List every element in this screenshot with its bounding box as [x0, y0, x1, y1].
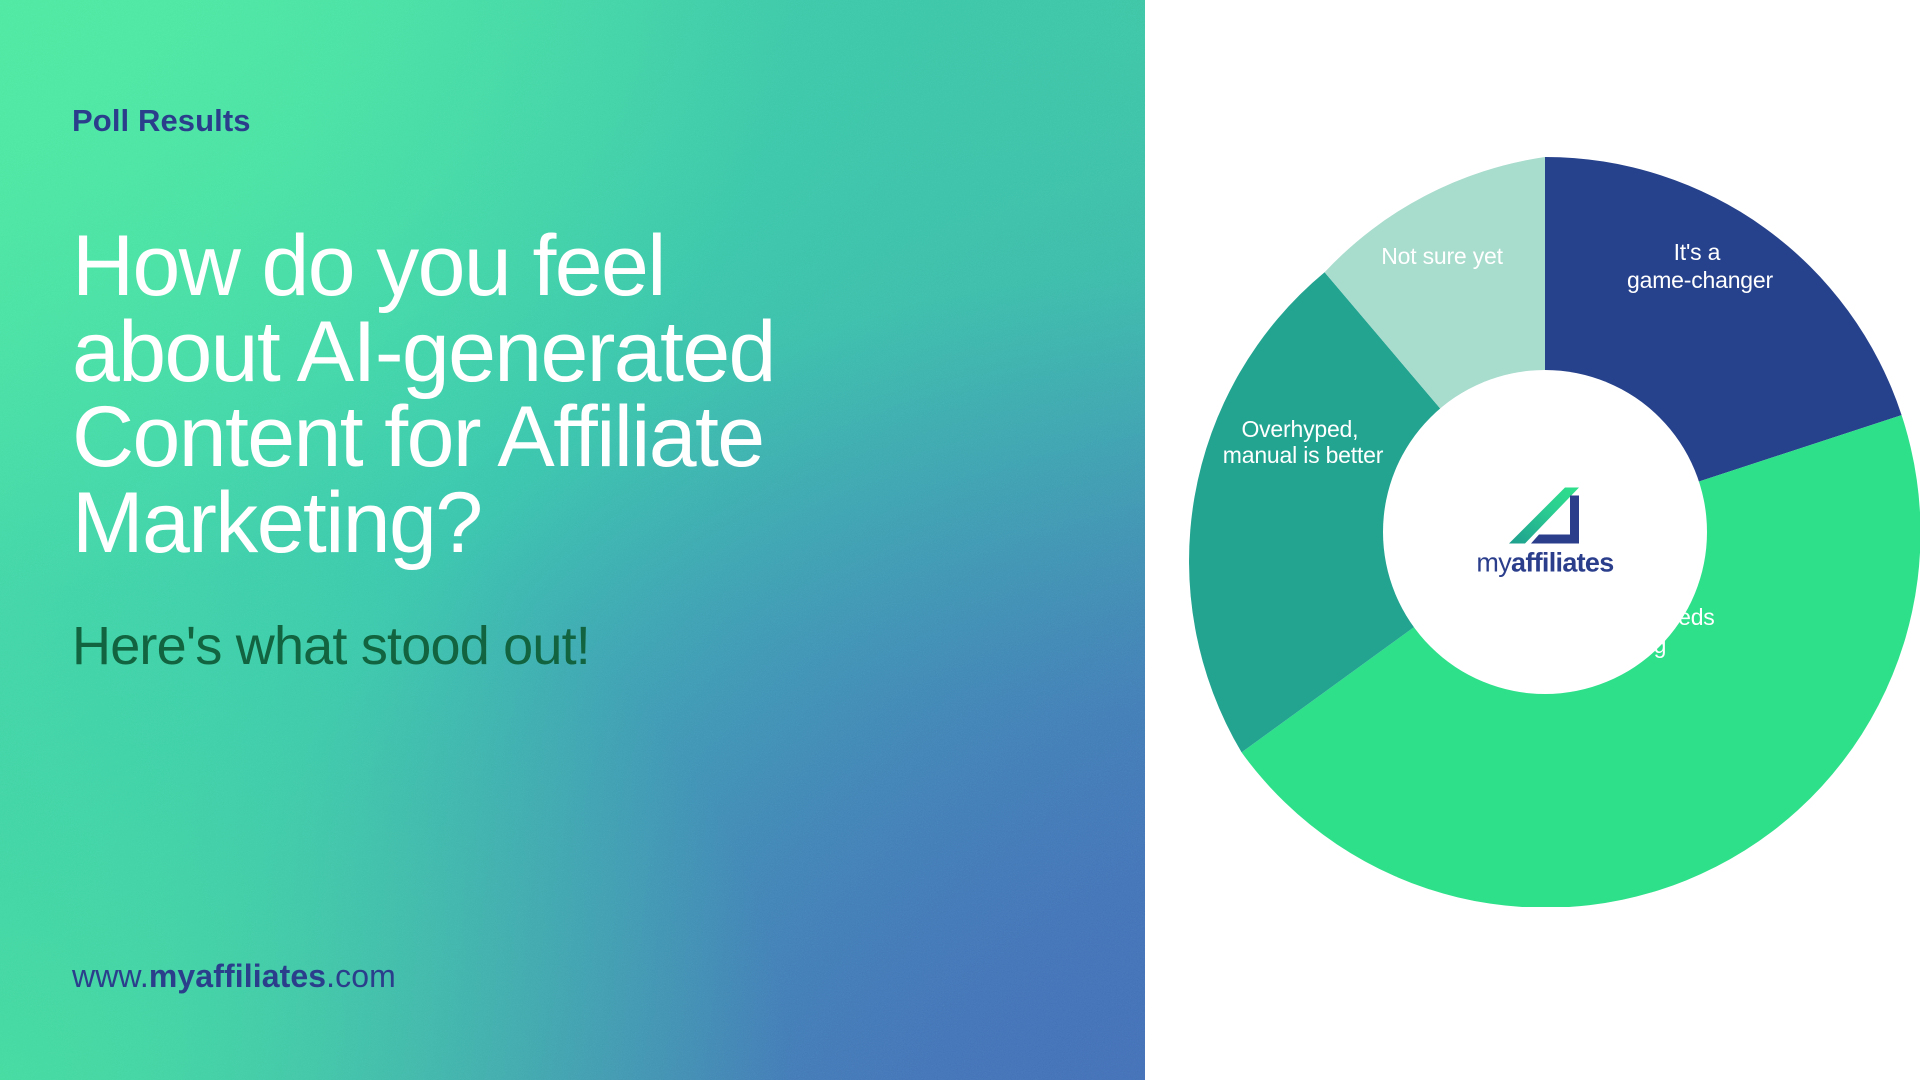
url-brand: myaffiliates	[149, 958, 326, 994]
subheading: Here's what stood out!	[72, 618, 1075, 675]
slice-label-overhyped-manual-is-better: Overhyped, manual is better	[1223, 416, 1384, 468]
headline-line-4: Marketing?	[72, 481, 1075, 567]
left-gradient-panel: Poll Results How do you feel about AI-ge…	[0, 0, 1145, 1080]
poll-results-graphic: Poll Results How do you feel about AI-ge…	[0, 0, 1920, 1080]
myaffiliates-logo: myaffiliates	[1440, 488, 1650, 577]
headline-line-1: How do you feel	[72, 224, 1075, 310]
myaffiliates-triangle-mark-icon	[1509, 488, 1581, 546]
donut-chart: It's a game-changer Useful but needs edi…	[1170, 157, 1920, 907]
myaffiliates-wordmark: myaffiliates	[1476, 550, 1613, 577]
url-suffix: .com	[326, 958, 396, 994]
right-chart-panel: It's a game-changer Useful but needs edi…	[1145, 0, 1920, 1080]
headline-line-3: Content for Affiliate	[72, 395, 1075, 481]
slice-label-not-sure-yet: Not sure yet	[1381, 243, 1503, 269]
website-url[interactable]: www.myaffiliates.com	[72, 958, 396, 995]
eyebrow-label: Poll Results	[72, 105, 1075, 136]
headline-line-2: about AI-generated	[72, 310, 1075, 396]
url-prefix: www.	[72, 958, 149, 994]
wordmark-my: my	[1476, 548, 1511, 578]
wordmark-affiliates: affiliates	[1511, 548, 1614, 578]
left-panel-content: Poll Results How do you feel about AI-ge…	[0, 0, 1145, 1080]
page-title: How do you feel about AI-generated Conte…	[72, 224, 1075, 566]
